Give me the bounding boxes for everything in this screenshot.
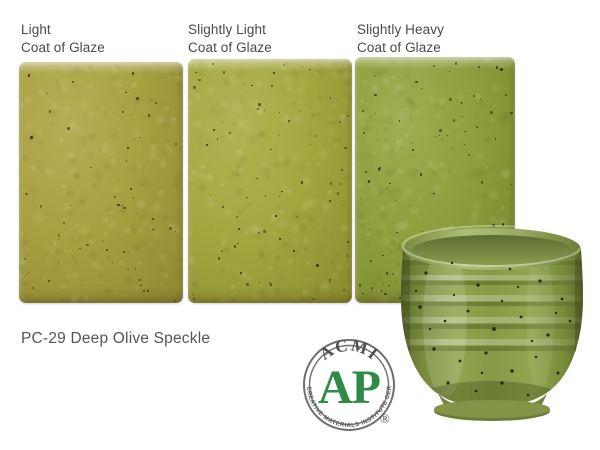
tile-label-slightly-light-line1: Slightly Light: [188, 21, 272, 39]
seal-registered-mark: ®: [380, 411, 390, 426]
tile-rim-1: [19, 62, 183, 303]
tile-label-light-line1: Light: [21, 21, 105, 39]
seal-ap-monogram: AP: [318, 361, 380, 414]
tile-label-slightly-heavy: Slightly Heavy Coat of Glaze: [357, 21, 444, 57]
product-swatch-image: Light Coat of Glaze Slightly Light Coat …: [0, 0, 600, 450]
glazed-ceramic-cup: [390, 225, 595, 423]
cup-rim: [403, 226, 581, 270]
product-name: PC-29 Deep Olive Speckle: [21, 330, 210, 348]
tile-label-slightly-heavy-line1: Slightly Heavy: [357, 21, 444, 39]
tile-label-slightly-light-line2: Coat of Glaze: [188, 39, 272, 57]
glaze-tile-slightly-light: [188, 59, 352, 303]
tile-label-slightly-light: Slightly Light Coat of Glaze: [188, 21, 272, 57]
tile-rim-2: [188, 59, 352, 303]
glaze-tile-light: [19, 62, 183, 303]
acmi-ap-certification-seal: ACMI ART & CREATIVE MATERIALS INSTITUTE …: [297, 333, 401, 437]
tile-label-slightly-heavy-line2: Coat of Glaze: [357, 39, 444, 57]
tile-label-light: Light Coat of Glaze: [21, 21, 105, 57]
tile-label-light-line2: Coat of Glaze: [21, 39, 105, 57]
